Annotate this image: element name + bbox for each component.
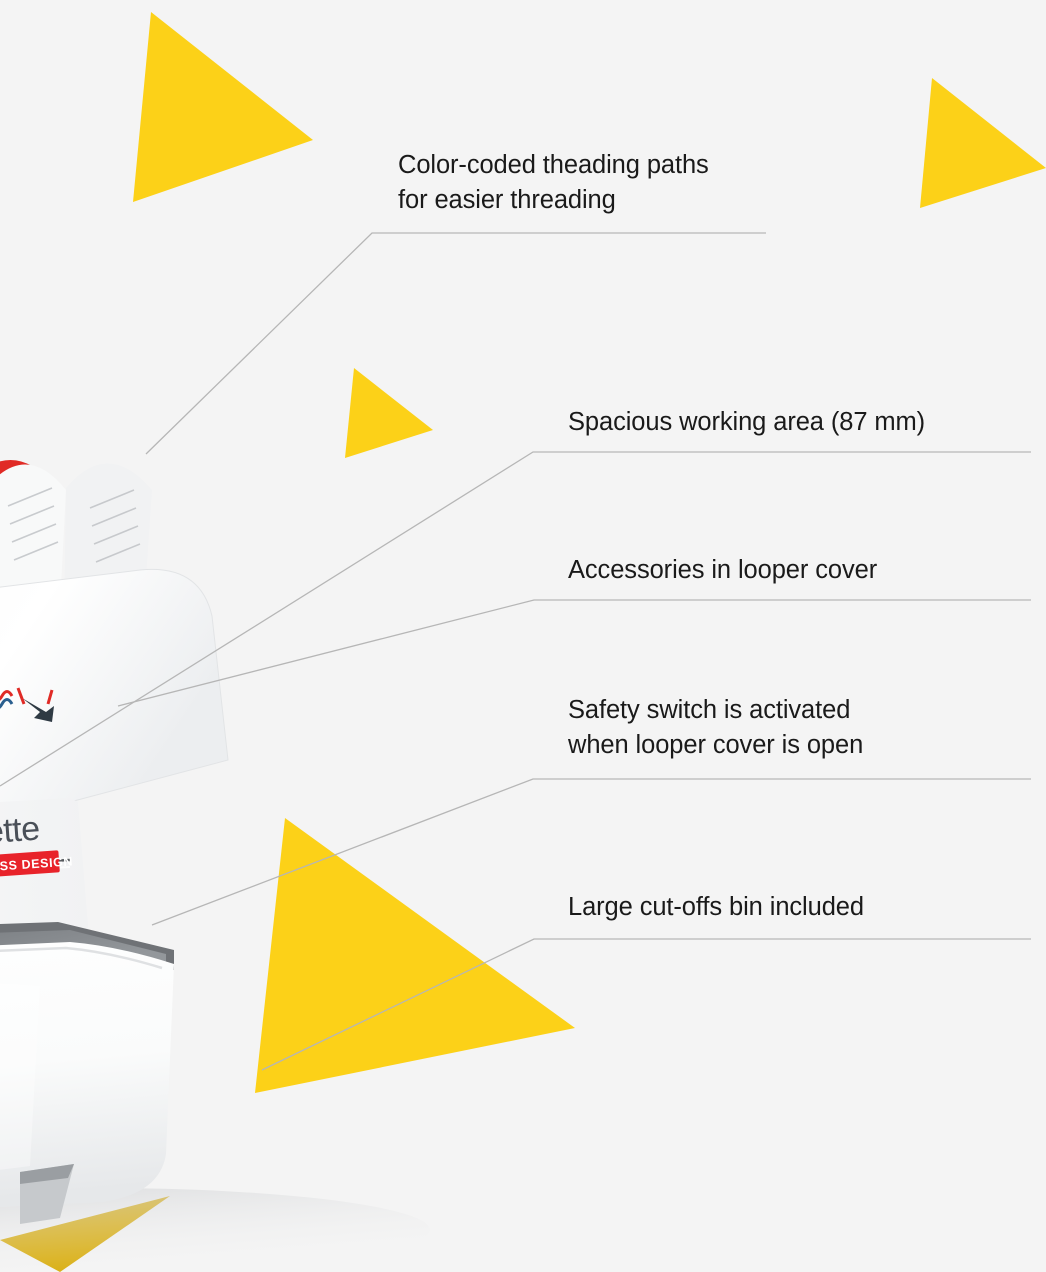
- callout-label-color-coded-threading: Color-coded theading paths for easier th…: [398, 148, 709, 218]
- callout-label-accessories-looper-cover: Accessories in looper cover: [568, 553, 877, 588]
- infographic-canvas: bernette SWISS DESIGN Color-coded theadi…: [0, 0, 1046, 1272]
- callout-cutoffs-bin: Large cut-offs bin included: [568, 890, 864, 925]
- callout-label-spacious-working-area: Spacious working area (87 mm): [568, 405, 925, 440]
- product-photo-serger-machine: bernette SWISS DESIGN: [0, 430, 430, 1272]
- callout-label-cutoffs-bin: Large cut-offs bin included: [568, 890, 864, 925]
- callout-spacious-working-area: Spacious working area (87 mm): [568, 405, 925, 440]
- machine-top-cover: [0, 569, 228, 830]
- callout-safety-switch: Safety switch is activated when looper c…: [568, 693, 863, 763]
- callout-accessories-looper-cover: Accessories in looper cover: [568, 553, 877, 588]
- callout-label-safety-switch: Safety switch is activated when looper c…: [568, 693, 863, 763]
- callout-color-coded-threading: Color-coded theading paths for easier th…: [398, 148, 709, 218]
- triangle-top-left: [133, 12, 313, 202]
- triangle-top-right: [920, 78, 1046, 208]
